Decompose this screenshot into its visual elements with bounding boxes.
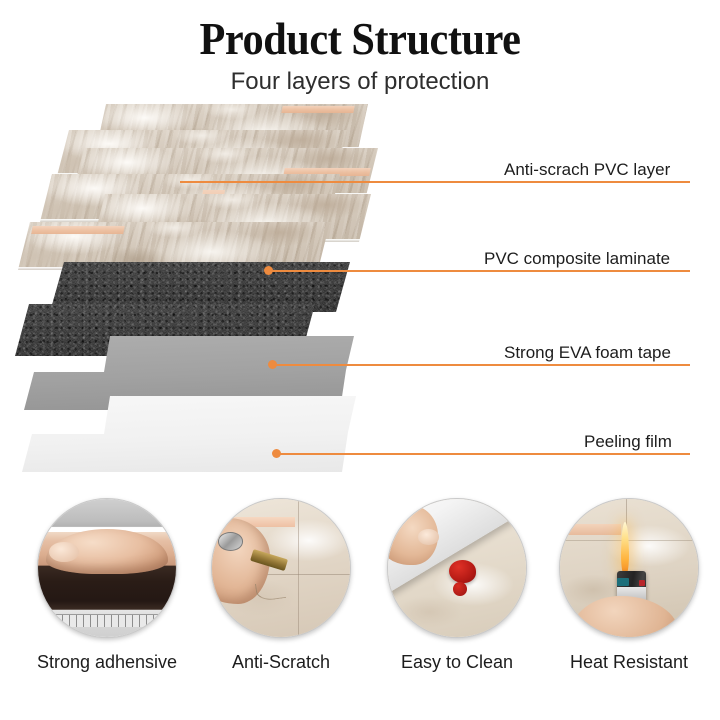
feature-photo-lighter-flame-on-tile	[559, 498, 699, 638]
feature-row: Strong adhensive Anti-Scratch Easy to Cl…	[0, 498, 720, 698]
layer-label-anti-scratch-pvc: Anti-scrach PVC layer	[504, 160, 670, 180]
layer-label-pvc-composite-laminate: PVC composite laminate	[484, 249, 670, 269]
feature-caption: Easy to Clean	[372, 652, 542, 673]
leader-dot-eva-foam-tape	[268, 360, 277, 369]
feature-photo-key-scratching-tile	[211, 498, 351, 638]
feature-photo-thumb-pressing-tile	[37, 498, 177, 638]
layer-label-peeling-film: Peeling film	[584, 432, 672, 452]
leader-line-peeling-film	[276, 453, 690, 455]
feature-heat-resistant: Heat Resistant	[544, 498, 714, 673]
leader-dot-pvc-composite-laminate	[264, 266, 273, 275]
product-structure-infographic: Product Structure Four layers of protect…	[0, 0, 720, 720]
feature-caption: Anti-Scratch	[196, 652, 366, 673]
leader-line-anti-scratch-pvc	[180, 181, 690, 183]
leader-line-pvc-composite-laminate	[268, 270, 690, 272]
layer-label-eva-foam-tape: Strong EVA foam tape	[504, 343, 671, 363]
page-title: Product Structure	[29, 12, 691, 65]
feature-strong-adhensive: Strong adhensive	[22, 498, 192, 673]
leader-dot-peeling-film	[272, 449, 281, 458]
feature-anti-scratch: Anti-Scratch	[196, 498, 366, 673]
grout-line	[281, 106, 354, 113]
feature-caption: Strong adhensive	[22, 652, 192, 673]
feature-caption: Heat Resistant	[544, 652, 714, 673]
feature-easy-to-clean: Easy to Clean	[372, 498, 542, 673]
leader-line-eva-foam-tape	[272, 364, 690, 366]
page-subtitle: Four layers of protection	[0, 68, 720, 96]
feature-photo-cloth-wiping-ketchup	[387, 498, 527, 638]
exploded-layer-stack	[0, 100, 460, 470]
grout-line	[31, 226, 125, 234]
